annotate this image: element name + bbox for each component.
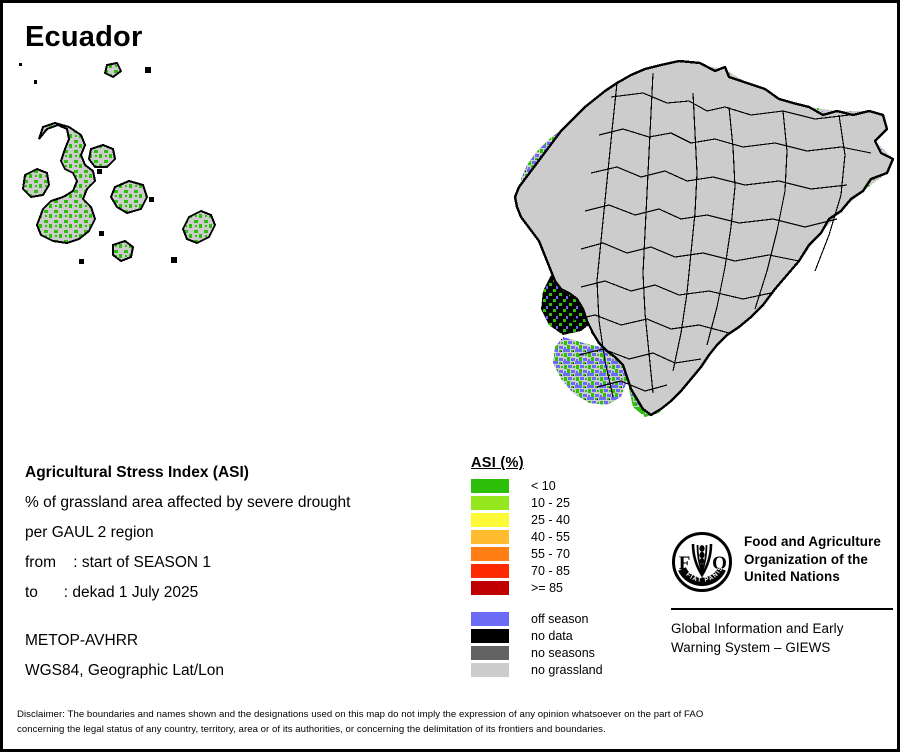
- legend-swatch-gte85: [471, 581, 509, 595]
- legend-item: 25 - 40: [471, 511, 651, 528]
- legend-title: ASI (%): [471, 455, 651, 471]
- fao-org-line2: Organization of the: [744, 551, 881, 569]
- legend-label-no-seasons: no seasons: [531, 646, 595, 660]
- legend-swatch-10-25: [471, 496, 509, 510]
- fao-org-line3: United Nations: [744, 568, 881, 586]
- page-title: Ecuador: [25, 23, 142, 52]
- disclaimer: Disclaimer: The boundaries and names sho…: [17, 708, 883, 737]
- asi-heading: Agricultural Stress Index (ASI): [25, 458, 455, 488]
- legend-spacer: [471, 596, 651, 610]
- legend-label-off-season: off season: [531, 612, 588, 626]
- legend-label-lt10: < 10: [531, 479, 556, 493]
- legend-item: off season: [471, 610, 651, 627]
- legend-item: 55 - 70: [471, 545, 651, 562]
- projection-label: WGS84, Geographic Lat/Lon: [25, 656, 455, 686]
- disclaimer-line1: Disclaimer: The boundaries and names sho…: [17, 708, 883, 723]
- legend-item: no grassland: [471, 661, 651, 678]
- legend-label-no-data: no data: [531, 629, 573, 643]
- legend-swatch-off-season: [471, 612, 509, 626]
- legend-swatch-70-85: [471, 564, 509, 578]
- galapagos-islands: [19, 63, 215, 264]
- legend-swatch-40-55: [471, 530, 509, 544]
- giews-line2: Warning System – GIEWS: [671, 638, 897, 657]
- ecuador-mainland: [515, 61, 893, 417]
- legend-swatch-no-data: [471, 629, 509, 643]
- legend-swatch-no-seasons: [471, 646, 509, 660]
- giews-label: Global Information and Early Warning Sys…: [671, 619, 897, 657]
- legend-label-40-55: 40 - 55: [531, 530, 570, 544]
- map-frame: Ecuador: [0, 0, 900, 752]
- period-to: to : dekad 1 July 2025: [25, 578, 455, 608]
- sensor-label: METOP-AVHRR: [25, 626, 455, 656]
- fao-organization-name: Food and Agriculture Organization of the…: [744, 531, 881, 586]
- disclaimer-line2: concerning the legal status of any count…: [17, 723, 883, 738]
- legend-item: 10 - 25: [471, 494, 651, 511]
- legend-item: 40 - 55: [471, 528, 651, 545]
- asi-subtitle: % of grassland area affected by severe d…: [25, 488, 455, 518]
- giews-line1: Global Information and Early: [671, 619, 897, 638]
- legend-swatch-no-grassland: [471, 663, 509, 677]
- map-canvas[interactable]: [3, 49, 897, 449]
- legend-item: no seasons: [471, 644, 651, 661]
- legend-label-10-25: 10 - 25: [531, 496, 570, 510]
- asi-region-level: per GAUL 2 region: [25, 518, 455, 548]
- legend-label-no-grassland: no grassland: [531, 663, 603, 677]
- fao-branding-block: F O FIAT PANIS: [671, 531, 897, 657]
- legend-label-70-85: 70 - 85: [531, 564, 570, 578]
- legend-item: >= 85: [471, 579, 651, 596]
- legend-label-gte85: >= 85: [531, 581, 563, 595]
- legend-swatch-55-70: [471, 547, 509, 561]
- legend-label-25-40: 25 - 40: [531, 513, 570, 527]
- legend-item: no data: [471, 627, 651, 644]
- legend-item: < 10: [471, 477, 651, 494]
- legend-swatch-lt10: [471, 479, 509, 493]
- legend-item: 70 - 85: [471, 562, 651, 579]
- legend-swatch-25-40: [471, 513, 509, 527]
- map-description-block: Agricultural Stress Index (ASI) % of gra…: [25, 458, 455, 686]
- period-from: from : start of SEASON 1: [25, 548, 455, 578]
- legend-label-55-70: 55 - 70: [531, 547, 570, 561]
- fao-divider: [671, 608, 893, 610]
- fao-logo-icon: F O FIAT PANIS: [671, 531, 733, 598]
- legend: ASI (%) < 10 10 - 25 25 - 40 40 - 55 55 …: [471, 455, 651, 678]
- fao-org-line1: Food and Agriculture: [744, 533, 881, 551]
